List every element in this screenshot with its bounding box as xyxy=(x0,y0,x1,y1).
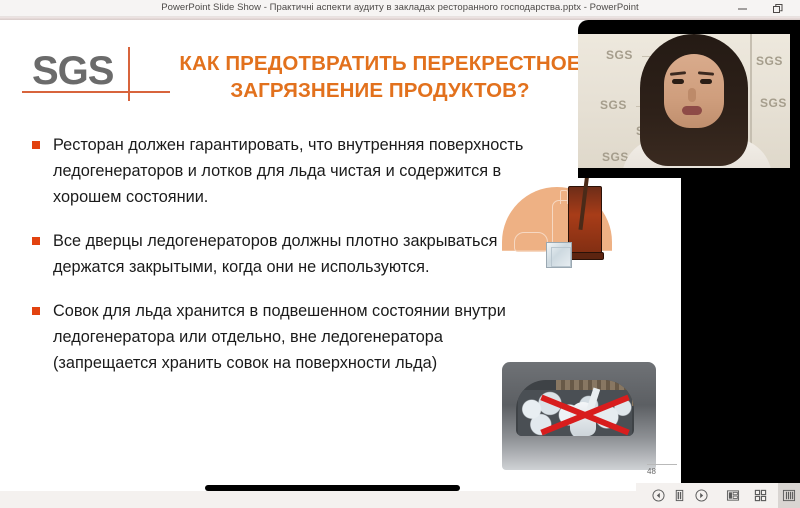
ice-machine-body xyxy=(502,362,656,470)
minimize-button[interactable] xyxy=(726,0,758,17)
chevron-left-circle-icon xyxy=(652,489,665,502)
slide-progress-fill xyxy=(205,485,460,491)
chevron-right-circle-icon xyxy=(695,489,708,502)
controls-spacer xyxy=(636,483,647,508)
bullet-square-icon xyxy=(32,307,40,315)
backdrop-sgs-text: SGS xyxy=(760,96,787,110)
presenter-nose xyxy=(688,88,696,102)
slide-title: КАК ПРЕДОТВРАТИТЬ ПЕРЕКРЕСТНОЕ ЗАГРЯЗНЕН… xyxy=(160,50,600,104)
bottle-neck-outline-icon xyxy=(560,190,568,204)
ice-cube-icon xyxy=(546,242,572,268)
video-letterbox-right xyxy=(790,20,800,178)
video-letterbox-top xyxy=(578,20,800,34)
cola-glass xyxy=(568,176,604,262)
slide-bullet-list: Ресторан должен гарантировать, что внутр… xyxy=(26,132,546,394)
restore-window-icon xyxy=(772,3,784,15)
presenter-mouth xyxy=(682,106,702,115)
restore-button[interactable] xyxy=(762,0,794,17)
controls-spacer xyxy=(712,483,722,508)
video-letterbox-bottom xyxy=(578,168,800,178)
slideshow-controls xyxy=(636,483,800,508)
slide-number-rule xyxy=(647,464,677,465)
sgs-logo-horizontal-rule xyxy=(22,91,170,93)
slide-number-block: 48 xyxy=(647,464,677,476)
bullet-text: Совок для льда хранится в подвешенном со… xyxy=(53,298,546,376)
title-bar: PowerPoint Slide Show - Практичні аспект… xyxy=(0,0,800,17)
next-slide-button[interactable] xyxy=(691,483,713,508)
backdrop-sgs-text: SGS xyxy=(756,54,783,68)
sgs-logo-vertical-rule xyxy=(128,47,130,101)
slide-progress-track[interactable] xyxy=(0,483,636,491)
backdrop-sgs-text: SGS xyxy=(606,48,633,62)
sgs-logo: SGS xyxy=(32,47,150,101)
sgs-logo-text: SGS xyxy=(32,49,113,93)
bullet-text: Все дверцы ледогенераторов должны плотно… xyxy=(53,228,546,280)
bullet-item: Совок для льда хранится в подвешенном со… xyxy=(26,298,546,376)
more-options-button[interactable] xyxy=(778,483,800,508)
slide-number: 48 xyxy=(647,467,677,476)
burger-outline-icon xyxy=(514,232,548,252)
minimize-icon xyxy=(737,3,748,14)
powerpoint-slideshow-window: PowerPoint Slide Show - Практичні аспект… xyxy=(0,0,800,508)
grid-slides-icon xyxy=(754,489,767,502)
bullet-square-icon xyxy=(32,141,40,149)
window-title: PowerPoint Slide Show - Практичні аспект… xyxy=(0,2,800,13)
cola-glass-illustration xyxy=(492,172,622,280)
progress-area[interactable] xyxy=(0,483,636,508)
slideshow-bottom-bar xyxy=(0,483,800,508)
bullet-item: Все дверцы ледогенераторов должны плотно… xyxy=(26,228,546,280)
bullet-square-icon xyxy=(32,237,40,245)
ice-machine-photo xyxy=(498,352,660,470)
presenter-view-icon xyxy=(726,489,740,502)
pen-tools-button[interactable] xyxy=(669,483,691,508)
presenter-webcam-overlay[interactable]: SGS SGS SGS SGS SGS SGS SGS xyxy=(578,20,800,178)
presenter-eye xyxy=(700,79,712,84)
pen-tools-icon xyxy=(673,489,686,502)
bullet-item: Ресторан должен гарантировать, что внутр… xyxy=(26,132,546,210)
bullet-text: Ресторан должен гарантировать, что внутр… xyxy=(53,132,546,210)
backdrop-sgs-text: SGS xyxy=(600,98,627,112)
presenter-view-button[interactable] xyxy=(722,483,744,508)
zoom-blur-icon xyxy=(782,489,796,502)
all-slides-button[interactable] xyxy=(750,483,772,508)
previous-slide-button[interactable] xyxy=(647,483,669,508)
presenter-eye xyxy=(672,79,684,84)
